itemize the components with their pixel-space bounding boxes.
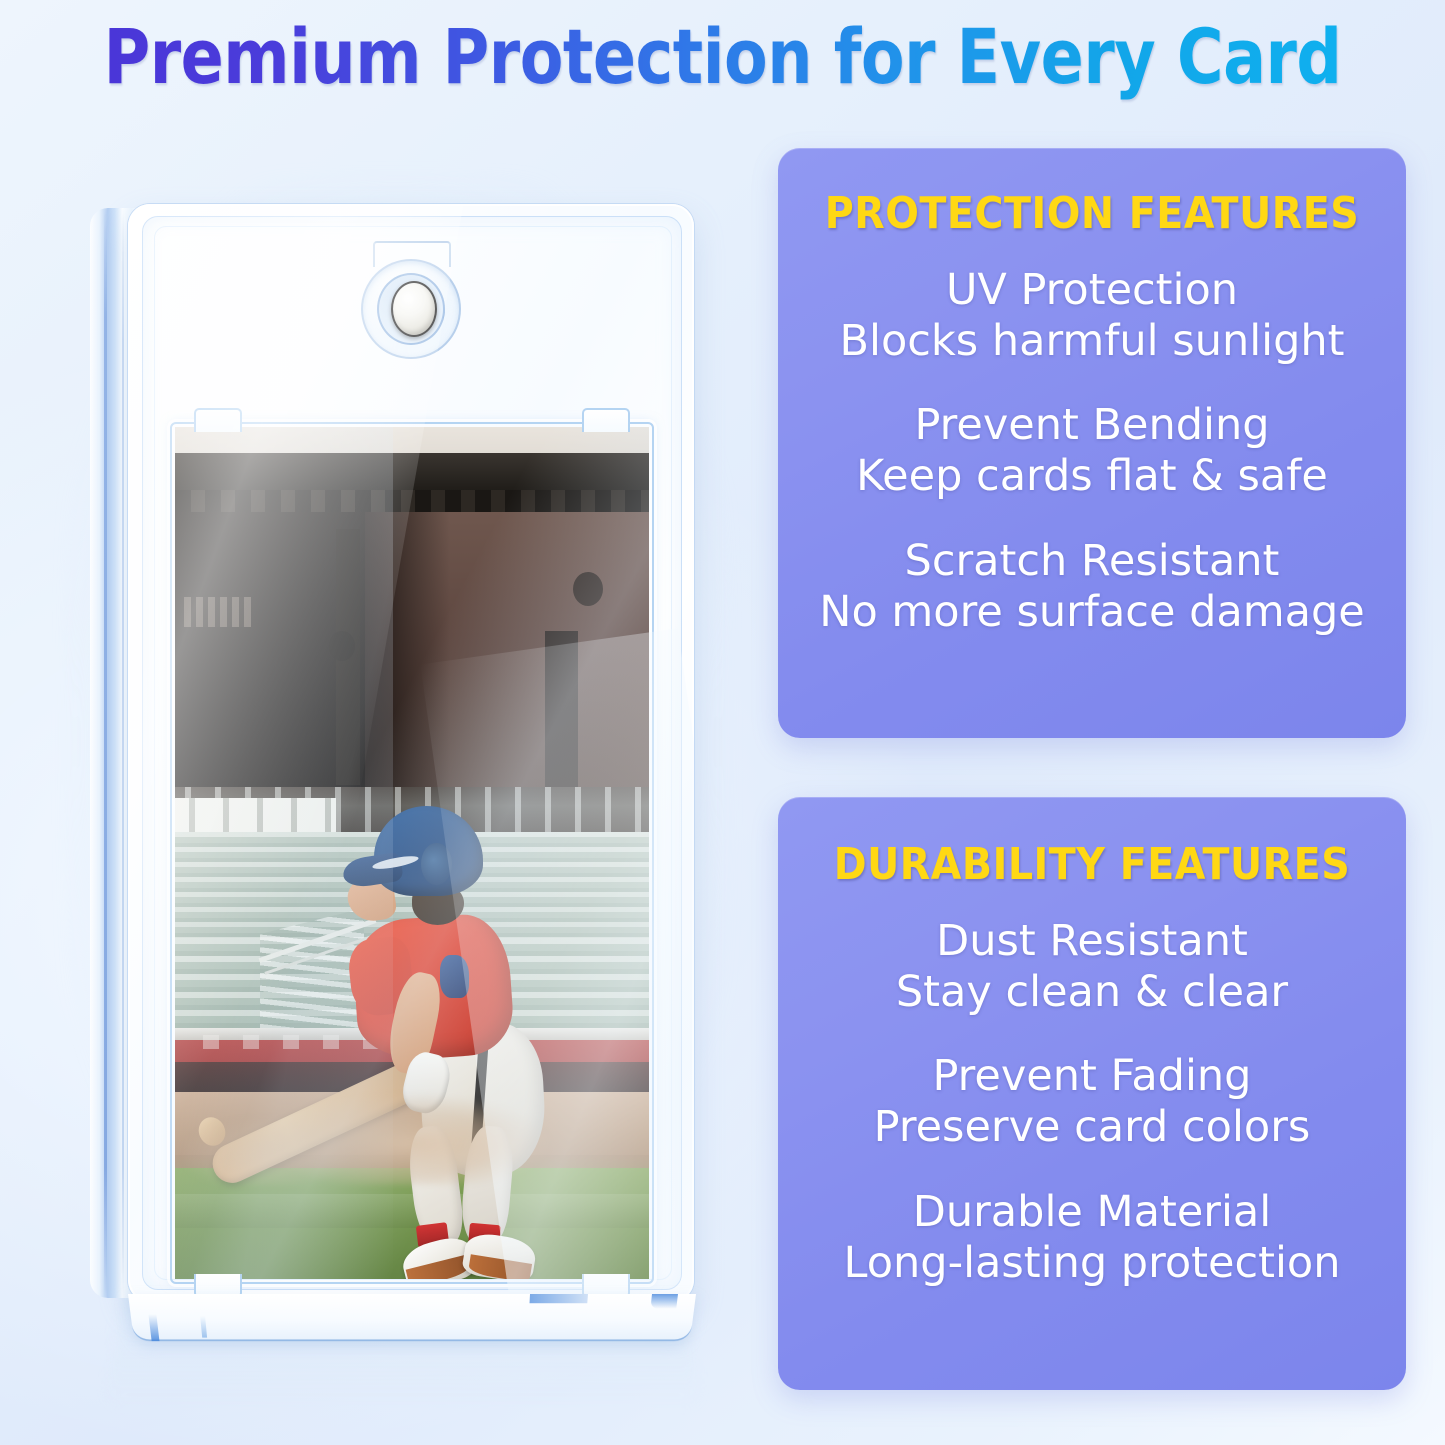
card-frame-notch-top-right	[582, 408, 630, 432]
feature-item: Scratch Resistant No more surface damage	[819, 536, 1364, 637]
durability-features-header: DURABILITY FEATURES	[834, 839, 1350, 890]
feature-title: Durable Material	[844, 1187, 1341, 1238]
feature-item: UV Protection Blocks harmful sunlight	[840, 265, 1345, 366]
acrylic-edge-tint-1	[148, 1314, 159, 1341]
acrylic-edge-tint-3	[530, 1294, 588, 1303]
card-frame-notch-top-left	[194, 408, 242, 432]
title-bar: Premium Protection for Every Card	[0, 0, 1445, 112]
magnetic-card-holder	[128, 204, 694, 1302]
feature-subtitle: No more surface damage	[819, 587, 1364, 638]
feature-title: Scratch Resistant	[819, 536, 1364, 587]
durability-feature-list: Dust Resistant Stay clean & clear Preven…	[778, 916, 1406, 1288]
protection-feature-list: UV Protection Blocks harmful sunlight Pr…	[778, 265, 1406, 637]
feature-item: Durable Material Long-lasting protection	[844, 1187, 1341, 1288]
feature-title: Dust Resistant	[896, 916, 1288, 967]
card-frame	[170, 422, 654, 1284]
acrylic-edge-tint-2	[200, 1316, 207, 1338]
magnet-closure	[361, 259, 461, 359]
page-title: Premium Protection for Every Card	[104, 12, 1342, 101]
feature-subtitle: Long-lasting protection	[844, 1238, 1341, 1289]
feature-subtitle: Keep cards flat & safe	[856, 451, 1328, 502]
product-image-area	[0, 112, 760, 1445]
feature-item: Dust Resistant Stay clean & clear	[896, 916, 1288, 1017]
magnet-disc	[391, 281, 437, 337]
acrylic-bottom-lip	[128, 1294, 696, 1341]
acrylic-edge-tint-4	[650, 1294, 678, 1309]
protection-features-header: PROTECTION FEATURES	[825, 188, 1360, 239]
feature-subtitle: Preserve card colors	[874, 1102, 1311, 1153]
feature-item: Prevent Bending Keep cards flat & safe	[856, 400, 1328, 501]
feature-item: Prevent Fading Preserve card colors	[874, 1051, 1311, 1152]
feature-title: Prevent Fading	[874, 1051, 1311, 1102]
protection-features-panel: PROTECTION FEATURES UV Protection Blocks…	[778, 148, 1406, 738]
feature-title: UV Protection	[840, 265, 1345, 316]
durability-features-panel: DURABILITY FEATURES Dust Resistant Stay …	[778, 797, 1406, 1390]
feature-subtitle: Stay clean & clear	[896, 967, 1288, 1018]
feature-title: Prevent Bending	[856, 400, 1328, 451]
card-frame-outline	[170, 422, 654, 1284]
feature-subtitle: Blocks harmful sunlight	[840, 316, 1345, 367]
